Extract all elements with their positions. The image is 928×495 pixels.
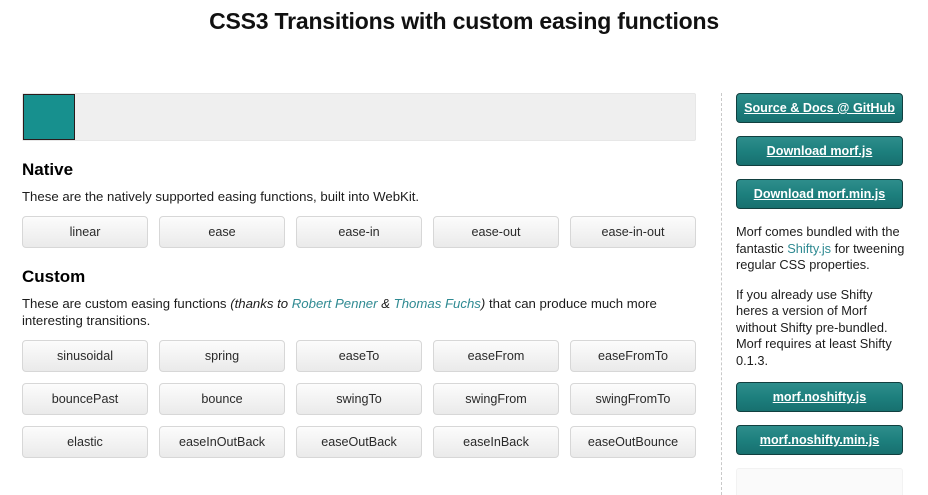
native-description: These are the natively supported easing …	[22, 188, 698, 205]
custom-credit: (thanks to Robert Penner & Thomas Fuchs)	[230, 296, 485, 311]
custom-desc-text-1: These are custom easing functions	[22, 296, 230, 311]
easing-button-easeoutback[interactable]: easeOutBack	[296, 426, 422, 458]
animation-track	[22, 93, 696, 141]
easing-button-easeinback[interactable]: easeInBack	[433, 426, 559, 458]
custom-easing-button-grid: sinusoidal spring easeTo easeFrom easeFr…	[22, 340, 696, 458]
download-morf-min-js-button[interactable]: Download morf.min.js	[736, 179, 903, 209]
sidebar-paragraph-bundled: Morf comes bundled with the fantastic Sh…	[736, 224, 908, 274]
link-thomas-fuchs[interactable]: Thomas Fuchs	[394, 296, 481, 311]
easing-button-easeto[interactable]: easeTo	[296, 340, 422, 372]
custom-heading: Custom	[22, 267, 698, 287]
easing-button-linear[interactable]: linear	[22, 216, 148, 248]
easing-button-ease[interactable]: ease	[159, 216, 285, 248]
morf-noshifty-js-button[interactable]: morf.noshifty.js	[736, 382, 903, 412]
native-easing-button-grid: linear ease ease-in ease-out ease-in-out	[22, 216, 696, 248]
easing-button-swingfrom[interactable]: swingFrom	[433, 383, 559, 415]
sidebar-divider	[721, 93, 722, 495]
easing-button-easeinoutback[interactable]: easeInOutBack	[159, 426, 285, 458]
easing-button-ease-out[interactable]: ease-out	[433, 216, 559, 248]
custom-description: These are custom easing functions (thank…	[22, 295, 698, 329]
animated-square	[23, 94, 75, 140]
easing-button-easefromto[interactable]: easeFromTo	[570, 340, 696, 372]
easing-button-bounce[interactable]: bounce	[159, 383, 285, 415]
page-root: CSS3 Transitions with custom easing func…	[0, 0, 928, 495]
source-docs-github-button[interactable]: Source & Docs @ GitHub	[736, 93, 903, 123]
easing-button-easeoutbounce[interactable]: easeOutBounce	[570, 426, 696, 458]
sidebar-paragraph-noshifty: If you already use Shifty heres a versio…	[736, 287, 908, 370]
easing-button-easefrom[interactable]: easeFrom	[433, 340, 559, 372]
easing-button-ease-in[interactable]: ease-in	[296, 216, 422, 248]
page-title: CSS3 Transitions with custom easing func…	[0, 0, 928, 35]
easing-button-elastic[interactable]: elastic	[22, 426, 148, 458]
link-shifty-js[interactable]: Shifty.js	[787, 241, 831, 256]
easing-button-sinusoidal[interactable]: sinusoidal	[22, 340, 148, 372]
easing-button-swingfromto[interactable]: swingFromTo	[570, 383, 696, 415]
custom-credit-amp: &	[378, 296, 394, 311]
link-robert-penner[interactable]: Robert Penner	[292, 296, 378, 311]
custom-credit-open: (thanks to	[230, 296, 292, 311]
native-heading: Native	[22, 160, 698, 180]
easing-button-bouncepast[interactable]: bouncePast	[22, 383, 148, 415]
sidebar: Source & Docs @ GitHub Download morf.js …	[736, 93, 903, 495]
easing-button-spring[interactable]: spring	[159, 340, 285, 372]
download-morf-js-button[interactable]: Download morf.js	[736, 136, 903, 166]
easing-button-ease-in-out[interactable]: ease-in-out	[570, 216, 696, 248]
main-column: Native These are the natively supported …	[22, 93, 698, 458]
easing-button-swingto[interactable]: swingTo	[296, 383, 422, 415]
morf-noshifty-min-js-button[interactable]: morf.noshifty.min.js	[736, 425, 903, 455]
sidebar-widget-placeholder	[736, 468, 903, 495]
